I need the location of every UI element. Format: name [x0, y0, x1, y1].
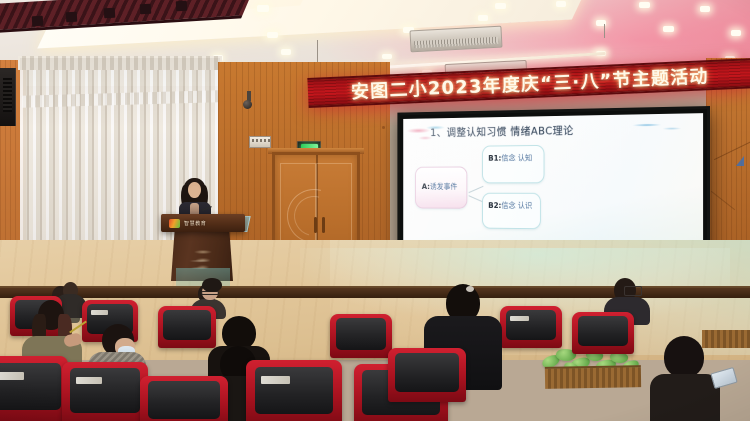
- slide-title: 1、调整认知习惯 情绪ABC理论: [430, 122, 573, 139]
- person-hair: [202, 278, 222, 292]
- beam-clip-icon: [104, 8, 116, 19]
- ceiling-spot-light: [281, 49, 291, 55]
- wall-speaker: [0, 68, 16, 126]
- person-hair: [222, 316, 256, 350]
- ceiling-spot-light: [478, 15, 488, 21]
- slide-box-b2: B2:信念 认识: [482, 193, 541, 229]
- light-rod: [317, 40, 318, 62]
- wall-marker: [736, 156, 744, 166]
- ceiling-spot-light: [639, 2, 650, 8]
- slide-box-b1-text: 信念 认知: [501, 154, 532, 163]
- beam-clip-icon: [176, 1, 188, 12]
- ceiling-spot-light: [700, 6, 710, 12]
- ceiling-spot-light: [267, 32, 278, 38]
- hair-clip-icon: [466, 286, 474, 292]
- ceiling-spot-light: [556, 1, 566, 7]
- ceiling-spot-light: [731, 30, 741, 36]
- lectern-nameplate: 智慧教育: [166, 218, 240, 229]
- slide-box-a-label: A:诱发事件: [422, 182, 458, 192]
- auditorium-photo: 安图二小2023年度庆“三·八”节主题活动 1、调整认知习惯 情绪ABC理论 A…: [0, 0, 750, 421]
- ceiling-spot-light: [663, 26, 674, 32]
- door-handle-right[interactable]: [322, 217, 325, 233]
- beam-clip-icon: [66, 12, 78, 23]
- seat[interactable]: [158, 306, 216, 348]
- presenter-face: [189, 186, 200, 198]
- slide-connector-line: [469, 186, 484, 193]
- slide-box-b2-text: 信念 认识: [501, 201, 532, 210]
- audience-person: [650, 336, 716, 421]
- person-body: [650, 374, 720, 421]
- slide-box-a: A:诱发事件: [415, 166, 467, 208]
- seat[interactable]: [572, 312, 634, 354]
- glasses-icon: [624, 286, 642, 296]
- seat[interactable]: [330, 314, 392, 358]
- door-handle-left[interactable]: [314, 217, 317, 233]
- ceiling-spot-light: [257, 5, 269, 12]
- seat[interactable]: [0, 356, 68, 421]
- slide-box-b1-prefix: B1:: [488, 154, 501, 163]
- audience-area: [0, 290, 750, 421]
- wall-control-panel[interactable]: [249, 136, 271, 148]
- slide-decoration-right: [630, 119, 688, 134]
- ceiling-spot-light: [495, 3, 506, 9]
- slide-box-b1-label: B1:信念 认知: [488, 153, 532, 164]
- beam-clip-icon: [140, 4, 152, 15]
- slide-box-b2-label: B2:信念 认识: [488, 200, 532, 211]
- beam-clip-icon: [32, 16, 44, 27]
- seat[interactable]: [246, 360, 342, 421]
- slide-box-b2-prefix: B2:: [488, 201, 501, 210]
- ceiling-spot-light: [382, 54, 392, 59]
- light-rod: [604, 24, 605, 38]
- wall-fixing-dot: [382, 126, 385, 129]
- security-camera-icon: [243, 100, 252, 109]
- slide-box-a-prefix: A:: [422, 183, 430, 191]
- seat[interactable]: [62, 362, 148, 421]
- lectern-label: 智慧教育: [184, 220, 206, 227]
- school-logo-icon: [169, 219, 180, 228]
- slide-box-a-text: 诱发事件: [430, 182, 457, 190]
- seat[interactable]: [388, 348, 466, 402]
- seat[interactable]: [500, 306, 562, 348]
- person-hair: [664, 336, 704, 378]
- slide-box-b1: B1:信念 认知: [482, 145, 544, 183]
- audience-person: [200, 278, 226, 300]
- seat[interactable]: [140, 376, 228, 421]
